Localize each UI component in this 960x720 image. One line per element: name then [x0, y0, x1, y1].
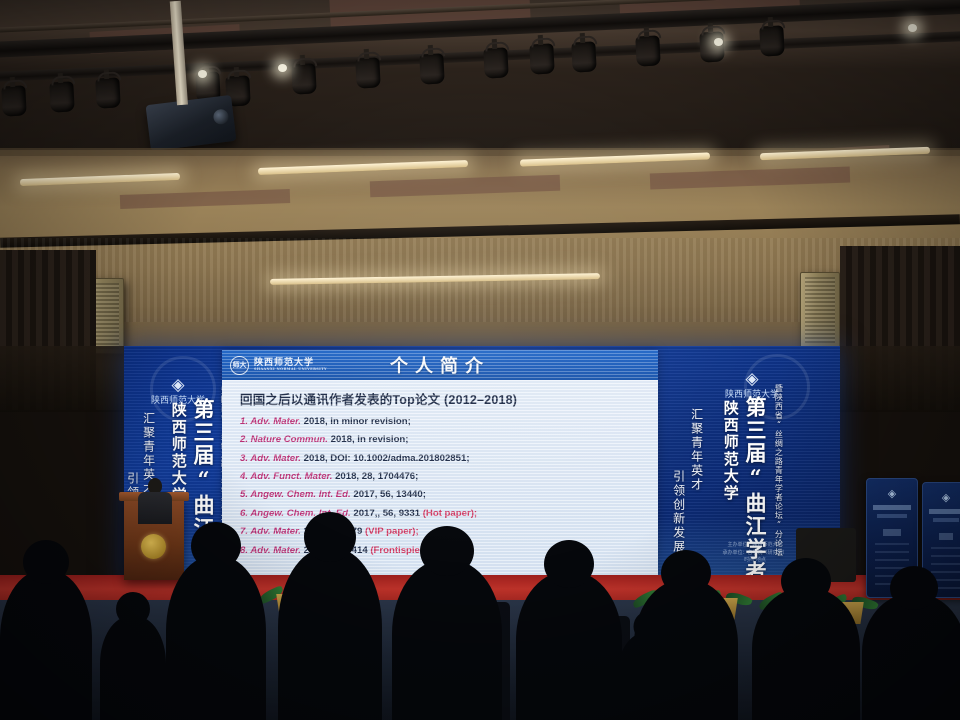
- podium-emblem: [141, 534, 166, 559]
- publication-number: 2.: [240, 434, 251, 445]
- stage-spotlight: [355, 57, 381, 88]
- audience-head: [420, 526, 474, 576]
- backdrop-slogan-right-b: 引领创新发展: [672, 470, 685, 554]
- publication-citation: 2017,, 56, 9331: [351, 508, 423, 519]
- backdrop-logo-mark: ◈: [150, 376, 206, 395]
- publication-journal: Adv. Mater.: [250, 416, 301, 427]
- audience-member: [100, 616, 166, 720]
- audience-member-foreground: [862, 594, 960, 720]
- backdrop-university-left: 陕西师范大学: [170, 402, 186, 504]
- backdrop-logo-mark: ◈: [722, 370, 782, 389]
- publication-entry: 2. Nature Commun. 2018, in revision;: [240, 435, 658, 445]
- ceiling-point-light: [714, 38, 723, 46]
- audience-head: [781, 558, 831, 604]
- stage-spotlight: [759, 25, 785, 56]
- poster-logo-icon: ◈: [942, 491, 950, 504]
- backdrop-subtitle-right: 暨陕西省“丝绸之路青年学者论坛”分论坛: [774, 384, 782, 557]
- projector-lens: [213, 108, 230, 125]
- backdrop-footer: 主办单位：陕西师范大学 承办单位：各学院（研究院） 时间·地点: [710, 542, 800, 565]
- wall-panel: [120, 189, 290, 209]
- publication-entry: 6. Angew. Chem. Int. Ed. 2017,, 56, 9331…: [240, 509, 658, 519]
- publication-citation: 2017, 56, 13440;: [351, 489, 426, 500]
- slide-heading: 回国之后以通讯作者发表的Top论文 (2012–2018): [240, 389, 658, 408]
- publication-citation: 2018, in revision;: [328, 434, 409, 445]
- publication-number: 7.: [240, 526, 250, 537]
- audience-member-foreground: [278, 548, 382, 720]
- publication-citation: 2018, in minor revision;: [301, 416, 411, 427]
- ceiling-point-light: [908, 24, 917, 32]
- audience-member-foreground: [0, 570, 92, 720]
- poster-line: [929, 509, 960, 514]
- projector-mount: [170, 1, 188, 106]
- publication-number: 5.: [240, 489, 250, 500]
- publication-journal: Adv. Mater.: [250, 453, 301, 464]
- audience-head: [23, 540, 69, 584]
- ceiling: [0, 0, 960, 172]
- publication-tag: (Hot paper);: [423, 508, 477, 519]
- audience-member-foreground: [166, 556, 266, 720]
- publication-tag: (VIP paper);: [365, 526, 419, 537]
- audience-member-foreground: [516, 572, 622, 720]
- slide-title: 个人简介: [222, 352, 658, 378]
- poster-line: [883, 529, 901, 536]
- publication-citation: 2018, DOI: 10.1002/adma.201802851;: [301, 453, 470, 464]
- ceiling-point-light: [278, 64, 287, 72]
- stage-spotlight: [635, 35, 661, 66]
- poster-line: [933, 518, 959, 522]
- stage-spotlight: [529, 43, 555, 74]
- audience-head: [890, 566, 938, 610]
- publication-journal: Nature Commun.: [251, 434, 328, 445]
- audience-head: [661, 550, 711, 596]
- backdrop-slogan-right-a: 汇聚青年英才: [690, 408, 703, 492]
- poster-line: [873, 505, 911, 510]
- audience-head: [544, 540, 594, 588]
- publication-citation: 2018, 28, 1704476;: [332, 471, 418, 482]
- publication-journal: Adv. Mater.: [250, 526, 301, 537]
- stage-spotlight: [419, 53, 445, 84]
- stage-spotlight: [483, 47, 509, 78]
- publication-journal: Adv. Funct. Mater.: [250, 471, 332, 482]
- stage-spotlight: [291, 63, 317, 94]
- stage-spotlight: [49, 81, 75, 112]
- audience-head: [191, 522, 241, 570]
- backdrop-university-right: 陕西师范大学: [722, 400, 738, 502]
- wall-panel: [650, 167, 850, 190]
- publication-number: 3.: [240, 453, 250, 464]
- presenter: [138, 478, 172, 522]
- stage-spotlight: [1, 85, 27, 116]
- audience-member-foreground: [392, 560, 502, 720]
- ceiling-light-strip: [258, 160, 468, 175]
- stage-spotlight: [571, 41, 597, 72]
- presenter-body: [138, 492, 172, 524]
- audience-head: [304, 512, 356, 562]
- pa-speaker-right: [800, 272, 840, 348]
- poster-line: [939, 533, 953, 540]
- publication-number: 4.: [240, 471, 250, 482]
- poster-logo-icon: ◈: [888, 487, 896, 500]
- publication-entry: 4. Adv. Funct. Mater. 2018, 28, 1704476;: [240, 472, 658, 482]
- conference-hall-photo: ◈ 陕西师范大学 暨陕西省“丝绸之路青年学者论坛”分论坛 第三届“曲江学者论坛”…: [0, 0, 960, 720]
- stage-spotlight: [699, 31, 725, 62]
- publication-number: 6.: [240, 508, 250, 519]
- audience-member-foreground: [634, 580, 738, 720]
- ceiling-light-strip: [20, 173, 180, 186]
- publication-entry: 1. Adv. Mater. 2018, in minor revision;: [240, 417, 658, 427]
- publication-entry: 5. Angew. Chem. Int. Ed. 2017, 56, 13440…: [240, 490, 658, 500]
- ceiling-point-light: [198, 70, 207, 78]
- wall-panel: [370, 175, 560, 198]
- audience-head: [116, 592, 150, 626]
- slide-header: 师大 陕西师范大学 SHAANXI NORMAL UNIVERSITY 个人简介: [222, 350, 658, 380]
- stage-spotlight: [95, 77, 121, 108]
- publication-journal: Adv. Mater.: [250, 545, 301, 556]
- publication-number: 8.: [240, 545, 250, 556]
- poster-line: [877, 514, 907, 518]
- ceiling-projector: [146, 95, 237, 151]
- publication-number: 1.: [240, 416, 250, 427]
- publication-journal: Angew. Chem. Int. Ed.: [250, 489, 350, 500]
- publication-entry: 3. Adv. Mater. 2018, DOI: 10.1002/adma.2…: [240, 454, 658, 464]
- audience-member-foreground: [752, 588, 860, 720]
